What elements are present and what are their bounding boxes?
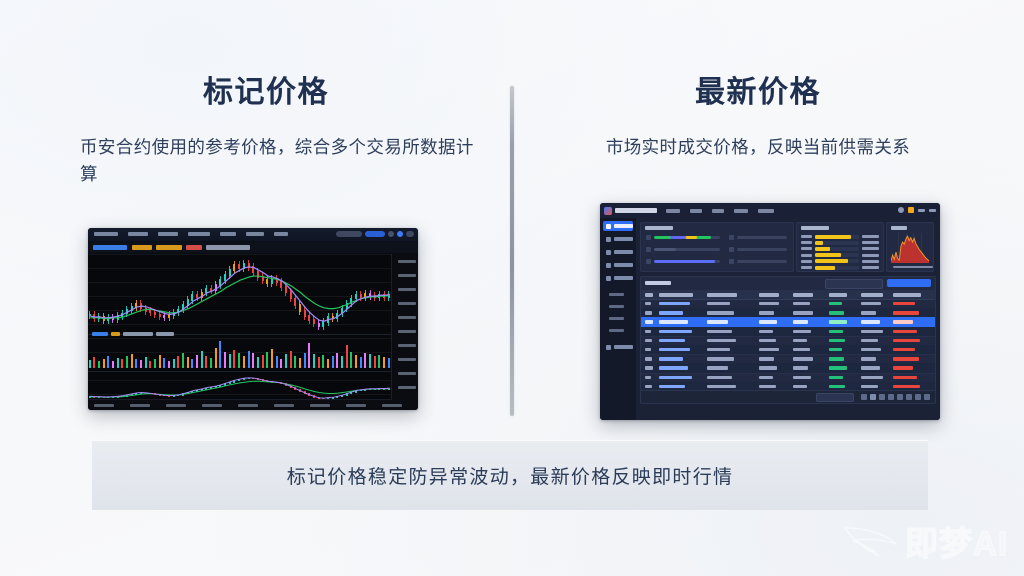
metric-progress-track — [654, 260, 720, 264]
metrics-card — [640, 222, 794, 272]
chart-nav-item-5[interactable] — [220, 232, 236, 236]
table-cell — [707, 302, 730, 305]
sidebar-item-icon — [606, 263, 611, 268]
ranking-bar-fill — [815, 259, 848, 263]
time-axis-label — [346, 404, 366, 407]
price-axis-label — [398, 260, 416, 263]
dashboard-topbar-actions — [898, 207, 936, 213]
ranking-row-3 — [801, 246, 879, 251]
metric-row-secondary-1 — [729, 235, 789, 240]
table-column-header-7[interactable] — [861, 293, 883, 297]
table-cell — [759, 320, 777, 323]
volume-bar — [308, 343, 310, 368]
volume-bar — [294, 356, 296, 368]
table-cell — [793, 330, 811, 333]
price-axis-label — [398, 344, 416, 347]
table-cell — [793, 403, 813, 404]
volume-bar — [196, 355, 198, 368]
chart-price-axis — [391, 254, 418, 410]
chart-nav-item-3[interactable] — [158, 232, 178, 236]
volume-bar — [126, 356, 128, 368]
volume-bar — [304, 353, 306, 368]
candlestick-chart-screenshot — [88, 228, 418, 410]
table-cell — [707, 385, 736, 388]
volume-bar — [121, 359, 123, 368]
table-cell — [793, 376, 811, 379]
table-cell — [659, 366, 688, 369]
volume-bar — [224, 352, 226, 368]
volume-bar — [332, 356, 334, 368]
table-cell — [659, 376, 692, 379]
metric-progress-fill — [654, 260, 715, 264]
volume-bar — [107, 356, 109, 368]
chart-indicator-tag-1[interactable] — [93, 245, 127, 250]
ranking-bar-fill — [815, 253, 841, 257]
price-axis-label — [398, 274, 416, 277]
table-cell — [645, 302, 651, 305]
volume-bar — [313, 354, 315, 368]
table-cell — [659, 348, 690, 351]
chart-plot-area — [88, 254, 418, 410]
table-cell — [829, 302, 842, 305]
table-cell — [645, 357, 652, 360]
volume-bar — [182, 353, 184, 368]
price-axis-label — [398, 316, 416, 319]
volume-bar — [285, 354, 287, 368]
sidebar-item-label — [614, 345, 633, 349]
last-price-title: 最新价格 — [534, 74, 982, 112]
sidebar-item-icon — [606, 276, 611, 281]
table-cell — [759, 330, 773, 333]
swoosh-logo-icon — [841, 522, 899, 564]
table-cell — [759, 339, 776, 342]
volume-bar — [112, 361, 114, 368]
ranking-value — [862, 260, 879, 263]
table-title — [645, 281, 671, 285]
volume-bar — [205, 356, 207, 368]
table-cell — [861, 311, 876, 314]
sidebar-item-icon — [606, 345, 611, 350]
chart-nav-action-2[interactable] — [365, 231, 385, 237]
volume-bar — [233, 350, 235, 368]
chart-nav-item-4[interactable] — [188, 232, 210, 236]
chart-top-navbar — [88, 228, 418, 242]
sidebar-item-3[interactable] — [603, 247, 633, 257]
mark-price-title: 标记价格 — [46, 74, 486, 112]
sidebar-subitem-label — [609, 317, 624, 320]
next-page-icon[interactable] — [915, 394, 921, 400]
chart-nav-actions — [336, 231, 414, 237]
column-divider — [510, 86, 514, 416]
table-cell — [893, 311, 919, 314]
table-cell — [829, 320, 847, 323]
ranking-bar-track — [815, 259, 859, 263]
table-cell — [829, 366, 847, 369]
volume-bar — [154, 359, 156, 368]
watermark: 即梦AI — [841, 522, 1008, 564]
table-cell — [861, 348, 881, 351]
summary-banner-text: 标记价格稳定防异常波动，最新价格反映即时行情 — [287, 462, 734, 489]
metric-row-3 — [646, 259, 724, 264]
chart-nav-action-5[interactable] — [406, 231, 414, 237]
volume-legend-chip-1 — [92, 332, 108, 336]
sidebar-subitem-2[interactable] — [609, 302, 633, 310]
last-price-description: 市场实时成交价格，反映当前供需关系 — [534, 134, 982, 161]
column-mark-price: 标记价格 币安合约使用的参考价格，综合多个交易所数据计算 — [46, 74, 486, 188]
volume-bar — [299, 358, 301, 368]
print-icon[interactable] — [888, 394, 894, 400]
dashboard-main-panel — [636, 218, 940, 420]
ranking-bar-fill — [815, 247, 830, 251]
chart-indicator-tag-3[interactable] — [156, 245, 182, 250]
table-cell — [707, 366, 728, 369]
volume-bar — [360, 357, 362, 368]
chart-nav-action-4[interactable] — [397, 231, 403, 237]
list-view-icon[interactable] — [870, 394, 876, 400]
close-icon[interactable] — [929, 209, 936, 212]
time-axis-label — [202, 404, 222, 407]
price-axis-label — [398, 330, 416, 333]
table-cell — [707, 311, 734, 314]
table-cell — [893, 385, 920, 388]
metric-progress-track — [654, 248, 720, 252]
time-axis-label — [238, 404, 258, 407]
table-cell — [829, 330, 843, 333]
chart-pane-separator-2 — [88, 371, 392, 372]
prev-page-icon[interactable] — [906, 394, 912, 400]
volume-bar — [131, 354, 133, 368]
metric-progress-track — [654, 236, 720, 240]
table-cell — [861, 357, 876, 360]
volume-bar — [93, 357, 95, 368]
table-column-header-6[interactable] — [829, 293, 847, 297]
chart-nav-item-2[interactable] — [128, 232, 148, 236]
volume-bar — [252, 353, 254, 368]
dashboard-topbar — [600, 203, 940, 219]
volume-bar — [341, 356, 343, 368]
table-column-header-4[interactable] — [759, 293, 779, 297]
table-cell — [645, 339, 652, 342]
indicator-ma-lines — [88, 376, 392, 400]
dashboard-menu-item-1[interactable] — [666, 209, 680, 213]
grid-view-icon[interactable] — [861, 394, 867, 400]
table-column-header-2[interactable] — [659, 293, 693, 297]
sidebar-subitem-label — [609, 293, 624, 296]
volume-bar — [290, 351, 292, 368]
ranking-row-5 — [801, 259, 879, 264]
sidebar-item-2[interactable] — [603, 234, 633, 244]
metric-row-2 — [646, 247, 724, 252]
table-cell — [829, 348, 842, 351]
chart-nav-item-7[interactable] — [274, 232, 288, 236]
ranking-value — [862, 254, 879, 257]
table-cell — [707, 320, 728, 323]
price-axis-label — [398, 372, 416, 375]
metric-progress-track — [737, 260, 787, 264]
volume-bar — [238, 353, 240, 368]
table-cell — [829, 403, 844, 404]
volume-bar — [140, 360, 142, 368]
table-cell — [861, 366, 880, 369]
ranking-row-2 — [801, 240, 879, 245]
price-axis-label — [398, 386, 416, 389]
table-cell — [759, 403, 774, 404]
metric-icon — [646, 247, 651, 252]
refresh-icon[interactable] — [898, 207, 904, 213]
table-cell — [659, 385, 685, 388]
trend-area-chart — [891, 233, 929, 263]
sidebar-item-1[interactable] — [603, 221, 633, 231]
table-cell — [829, 339, 845, 342]
sidebar-subitem-3[interactable] — [609, 314, 633, 322]
pagination-control[interactable] — [816, 393, 854, 402]
time-axis-label — [274, 404, 294, 407]
time-axis-label — [130, 404, 150, 407]
sidebar-item-5[interactable] — [603, 273, 633, 283]
price-axis-label — [398, 302, 416, 305]
sidebar-item-label — [614, 224, 633, 228]
table-cell — [893, 330, 917, 333]
chart-indicator-bar — [88, 242, 418, 254]
table-search-input[interactable] — [825, 279, 883, 289]
ranking-label — [801, 266, 812, 269]
table-cell — [759, 357, 774, 360]
ranking-bar-track — [815, 235, 859, 239]
table-cell — [707, 376, 732, 379]
metric-row-1 — [646, 235, 724, 240]
ranking-row-6 — [801, 265, 879, 270]
metrics-card-title — [645, 226, 673, 230]
table-cell — [893, 357, 919, 360]
ranking-row-4 — [801, 253, 879, 258]
sidebar-item-4[interactable] — [603, 260, 633, 270]
sidebar-subitem-label — [609, 329, 624, 332]
table-cell — [861, 376, 883, 379]
volume-bar — [215, 348, 217, 368]
volume-bar — [276, 356, 278, 368]
settings-icon[interactable] — [897, 394, 903, 400]
volume-bar — [210, 358, 212, 368]
table-cell — [793, 302, 810, 305]
ranking-bar-fill — [815, 241, 823, 245]
time-axis-label — [94, 404, 114, 407]
chart-time-axis — [88, 399, 392, 410]
volume-bar — [248, 351, 250, 369]
table-cell — [829, 385, 845, 388]
export-icon[interactable] — [879, 394, 885, 400]
sidebar-item-label — [614, 276, 633, 280]
volume-bar — [374, 356, 376, 368]
trend-chart-title — [891, 226, 907, 230]
volume-bar — [369, 354, 371, 368]
volume-legend-chip-2 — [111, 332, 120, 336]
sidebar-item-label — [614, 250, 633, 254]
ranking-label — [801, 235, 812, 238]
metric-row-secondary-2 — [729, 247, 789, 252]
trend-axis-tick — [923, 266, 933, 269]
sidebar-subitem-label — [609, 305, 624, 308]
chart-indicator-pane — [88, 376, 392, 400]
dashboard-menu-item-3[interactable] — [712, 209, 724, 213]
table-cell — [861, 302, 881, 305]
sidebar-subitem-1[interactable] — [609, 290, 633, 298]
volume-bar — [135, 359, 137, 368]
table-column-header-5[interactable] — [793, 293, 813, 297]
table-cell — [645, 385, 652, 388]
volume-bar — [271, 349, 273, 368]
volume-bar — [350, 352, 352, 368]
dashboard-sidebar — [600, 218, 637, 420]
volume-bar — [159, 355, 161, 368]
table-cell — [659, 357, 683, 360]
sidebar-item-icon — [606, 237, 611, 242]
ranking-card-title — [801, 226, 829, 230]
table-cell — [707, 330, 732, 333]
table-cell — [893, 348, 915, 351]
notification-icon[interactable] — [908, 207, 914, 213]
table-column-header-8[interactable] — [893, 293, 921, 297]
table-primary-button[interactable] — [887, 279, 931, 287]
ranking-value — [862, 241, 879, 244]
moving-average-line — [88, 256, 392, 332]
chart-nav-item-1[interactable] — [94, 232, 118, 236]
volume-bar — [346, 345, 348, 368]
volume-bar — [355, 355, 357, 368]
data-table — [640, 276, 936, 404]
chart-nav-item-6[interactable] — [246, 232, 264, 236]
table-cell — [759, 385, 776, 388]
chart-indicator-tag-4[interactable] — [186, 245, 202, 250]
volume-bar — [378, 355, 380, 368]
ranking-label — [801, 260, 812, 263]
ranking-bar-track — [815, 266, 859, 270]
ranking-row-1 — [801, 234, 879, 239]
table-cell — [893, 403, 919, 404]
dashboard-menu-item-2[interactable] — [690, 209, 702, 213]
ranking-value — [862, 266, 879, 269]
sidebar-item-last[interactable] — [603, 342, 633, 352]
table-cell — [645, 376, 651, 379]
ranking-value — [862, 235, 879, 238]
table-cell — [829, 357, 844, 360]
volume-bar — [257, 357, 259, 368]
sidebar-item-icon — [606, 250, 611, 255]
volume-legend-chip-3 — [123, 332, 153, 336]
refresh-icon[interactable] — [924, 394, 930, 400]
table-cell — [893, 339, 920, 342]
table-cell — [707, 348, 730, 351]
sidebar-item-label — [614, 263, 633, 267]
table-footer-toolbar — [641, 390, 935, 403]
ranking-label — [801, 247, 812, 250]
metric-progress-fill — [654, 248, 676, 252]
table-cell — [645, 320, 653, 323]
volume-bar — [229, 354, 231, 368]
table-cell — [759, 348, 779, 351]
table-cell — [893, 366, 913, 369]
volume-bar — [364, 353, 366, 368]
app-brand-name — [615, 208, 657, 213]
column-last-price: 最新价格 市场实时成交价格，反映当前供需关系 — [534, 74, 982, 161]
chart-indicator-tag-2[interactable] — [132, 245, 152, 250]
sidebar-subitem-4[interactable] — [609, 326, 633, 334]
chart-price-pane — [88, 256, 392, 332]
table-cell — [793, 385, 807, 388]
table-cell — [793, 366, 808, 369]
table-cell — [659, 339, 685, 342]
table-cell — [707, 339, 736, 342]
ranking-bar-track — [815, 253, 859, 257]
volume-bar — [243, 356, 245, 368]
chart-volume-pane — [88, 338, 392, 368]
ranking-bar-fill — [815, 266, 835, 270]
ranking-card — [796, 222, 884, 272]
ranking-bar-track — [815, 247, 859, 251]
table-cell — [645, 366, 653, 369]
volume-bar — [280, 359, 282, 368]
volume-bar — [388, 358, 390, 368]
table-cell — [659, 320, 688, 323]
volume-bar — [327, 359, 329, 368]
metric-icon — [646, 235, 651, 240]
volume-bar — [173, 359, 175, 368]
metric-icon — [729, 235, 734, 240]
table-cell — [793, 357, 813, 360]
dashboard-menu-item-4[interactable] — [734, 209, 748, 213]
metric-progress-fill — [654, 236, 711, 240]
table-cell — [659, 302, 690, 305]
volume-bar — [322, 355, 324, 368]
table-column-header-3[interactable] — [707, 293, 737, 297]
table-column-header-1[interactable] — [645, 293, 653, 297]
volume-bar — [336, 353, 338, 368]
chart-nav-action-3[interactable] — [388, 231, 394, 237]
minimize-icon[interactable] — [918, 209, 925, 212]
table-cell — [659, 330, 692, 333]
table-cell — [645, 403, 652, 404]
volume-bar — [149, 361, 151, 368]
volume-bar — [117, 358, 119, 368]
table-cell — [707, 357, 734, 360]
app-logo-icon — [604, 207, 612, 215]
mark-price-description: 币安合约使用的参考价格，综合多个交易所数据计算 — [46, 134, 486, 188]
volume-legend-chip-4 — [156, 332, 174, 336]
volume-bar — [383, 357, 385, 368]
volume-bar — [201, 351, 203, 368]
chart-nav-action-1[interactable] — [336, 231, 362, 237]
table-cell — [893, 302, 915, 305]
metric-icon — [729, 247, 734, 252]
volume-bar — [318, 357, 320, 368]
volume-bar — [187, 357, 189, 368]
price-axis-label — [398, 288, 416, 291]
ranking-label — [801, 241, 812, 244]
volume-bar — [145, 357, 147, 368]
table-cell — [793, 339, 807, 342]
table-cell — [659, 311, 683, 314]
table-cell — [893, 320, 913, 323]
time-axis-label — [166, 404, 186, 407]
watermark-text: 即梦AI — [905, 527, 1008, 560]
dashboard-screenshot — [600, 203, 940, 420]
table-cell — [829, 376, 843, 379]
table-cell — [759, 311, 774, 314]
chart-indicator-tag-5[interactable] — [206, 245, 250, 250]
metric-row-secondary-3 — [729, 259, 789, 264]
volume-bar — [266, 352, 268, 368]
ranking-bar-track — [815, 241, 859, 245]
dashboard-menu-item-5[interactable] — [758, 209, 774, 213]
